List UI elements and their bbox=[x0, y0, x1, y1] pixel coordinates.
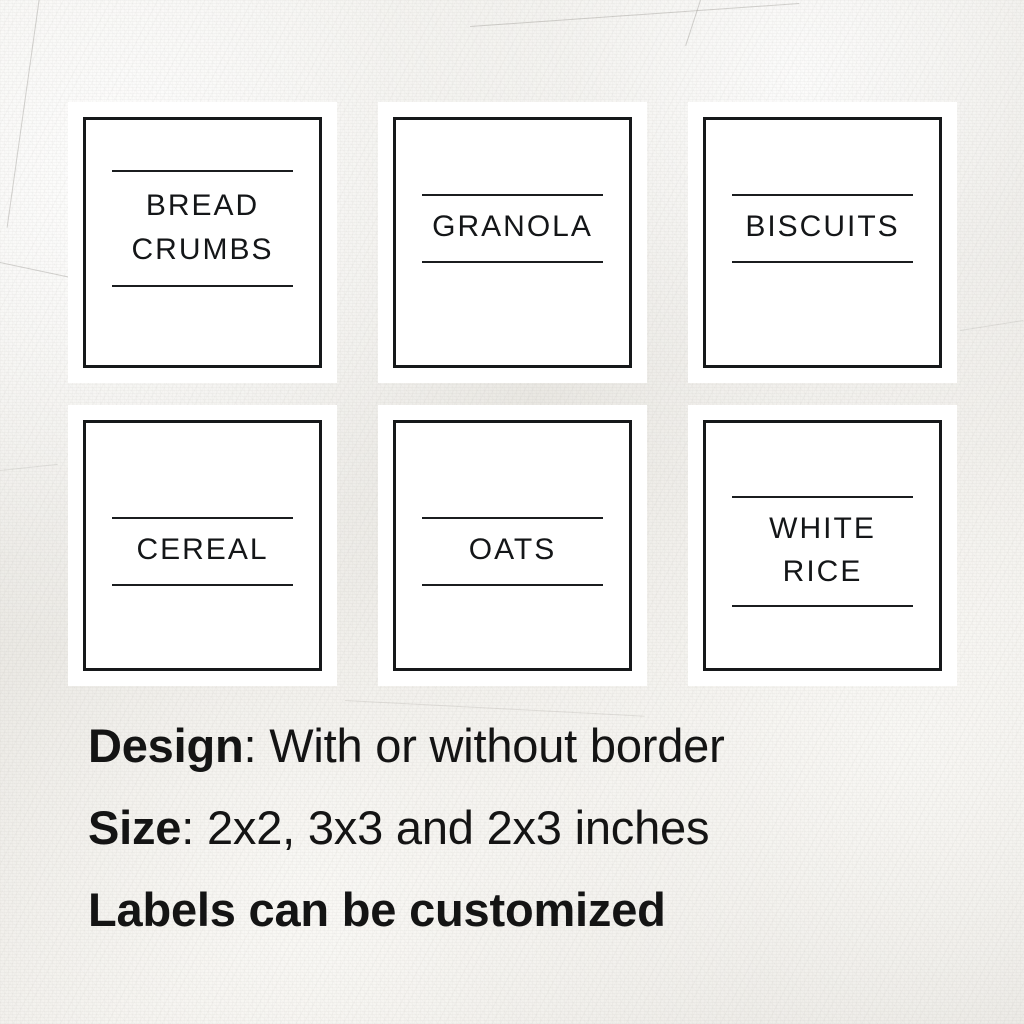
label-name-granola: GRANOLA bbox=[432, 196, 593, 261]
label-card-border: CEREAL bbox=[83, 420, 322, 671]
label-rule-bottom bbox=[732, 261, 913, 263]
label-name-cereal: CEREAL bbox=[136, 519, 268, 584]
promo-value-size: : 2x2, 3x3 and 2x3 inches bbox=[181, 801, 709, 854]
label-card-border: OATS bbox=[393, 420, 632, 671]
label-card-grid: BREAD CRUMBS GRANOLA BISCUITS bbox=[68, 102, 956, 686]
label-name-bread-crumbs: BREAD CRUMBS bbox=[131, 172, 273, 286]
label-card-bread-crumbs[interactable]: BREAD CRUMBS bbox=[68, 102, 337, 383]
label-card-granola[interactable]: GRANOLA bbox=[378, 102, 647, 383]
promo-copy-block: Design: With or without border Size: 2x2… bbox=[88, 722, 988, 933]
label-text-block: BISCUITS bbox=[732, 194, 913, 263]
label-name-biscuits: BISCUITS bbox=[745, 196, 899, 261]
label-card-oats[interactable]: OATS bbox=[378, 405, 647, 686]
promo-label-design: Design bbox=[88, 719, 244, 772]
label-text-block: GRANOLA bbox=[422, 194, 603, 263]
label-rule-bottom bbox=[112, 584, 293, 586]
promo-label-size: Size bbox=[88, 801, 181, 854]
label-name-white-rice: WHITE RICE bbox=[732, 498, 913, 605]
label-card-biscuits[interactable]: BISCUITS bbox=[688, 102, 957, 383]
label-text-block: BREAD CRUMBS bbox=[112, 170, 293, 288]
label-card-border: WHITE RICE bbox=[703, 420, 942, 671]
label-text-block: CEREAL bbox=[112, 517, 293, 586]
label-card-white-rice[interactable]: WHITE RICE bbox=[688, 405, 957, 686]
poster-canvas: BREAD CRUMBS GRANOLA BISCUITS bbox=[0, 0, 1024, 1024]
promo-value-design: : With or without border bbox=[244, 719, 725, 772]
label-card-border: BISCUITS bbox=[703, 117, 942, 368]
label-rule-bottom bbox=[732, 605, 913, 607]
label-text-block: WHITE RICE bbox=[732, 496, 913, 607]
promo-line-size: Size: 2x2, 3x3 and 2x3 inches bbox=[88, 804, 988, 851]
label-rule-bottom bbox=[422, 584, 603, 586]
label-rule-bottom bbox=[422, 261, 603, 263]
label-card-border: BREAD CRUMBS bbox=[83, 117, 322, 368]
label-name-oats: OATS bbox=[469, 519, 556, 584]
label-text-block: OATS bbox=[422, 517, 603, 586]
promo-line-design: Design: With or without border bbox=[88, 722, 988, 769]
promo-line-custom: Labels can be customized bbox=[88, 886, 988, 933]
promo-label-custom: Labels can be customized bbox=[88, 883, 666, 936]
label-card-border: GRANOLA bbox=[393, 117, 632, 368]
label-rule-bottom bbox=[112, 285, 293, 287]
label-card-cereal[interactable]: CEREAL bbox=[68, 405, 337, 686]
